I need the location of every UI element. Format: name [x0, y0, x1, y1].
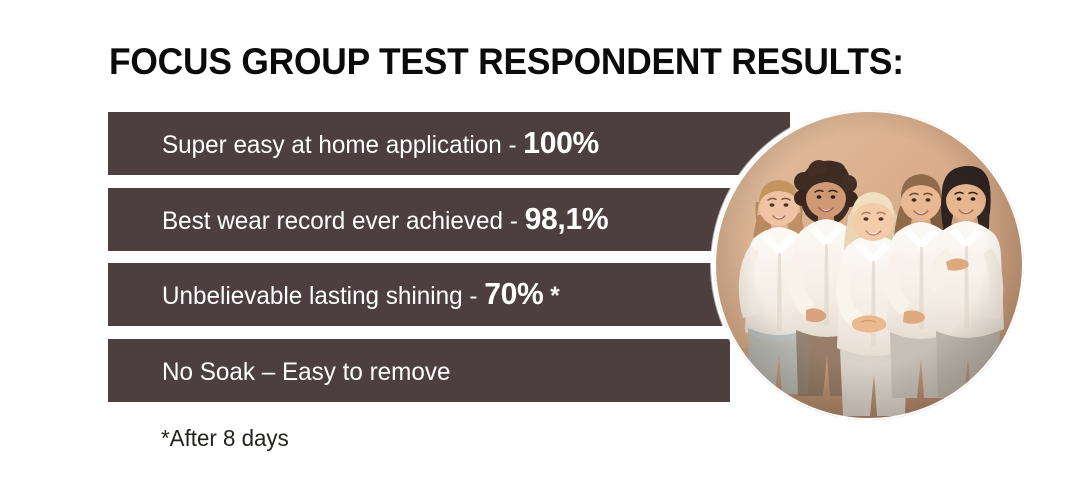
result-bar-value: 70% — [484, 276, 543, 311]
result-bar-label: Unbelievable lasting shining - — [162, 282, 484, 310]
result-bar: Best wear record ever achieved - 98,1% — [108, 188, 790, 251]
result-bar-label: No Soak – Easy to remove — [162, 358, 450, 386]
result-bar-label: Super easy at home application - — [162, 131, 523, 159]
result-bar-text: No Soak – Easy to remove — [162, 356, 450, 386]
result-bar: No Soak – Easy to remove — [108, 339, 730, 402]
group-photo — [714, 110, 1024, 420]
result-bar-value: 98,1% — [525, 201, 609, 236]
result-bar-suffix: * — [544, 282, 560, 310]
infographic-panel: FOCUS GROUP TEST RESPONDENT RESULTS: Sup… — [0, 0, 1080, 495]
result-bar-text: Super easy at home application - 100% — [162, 129, 599, 159]
result-bar-text: Unbelievable lasting shining - 70% * — [162, 280, 560, 310]
result-bar-value: 100% — [523, 125, 599, 160]
result-bar: Unbelievable lasting shining - 70% * — [108, 263, 790, 326]
result-bar: Super easy at home application - 100% — [108, 112, 790, 175]
group-photo-illustration — [714, 110, 1024, 420]
result-bar-label: Best wear record ever achieved - — [162, 207, 525, 235]
result-bar-text: Best wear record ever achieved - 98,1% — [162, 205, 608, 235]
footnote: *After 8 days — [161, 424, 289, 452]
